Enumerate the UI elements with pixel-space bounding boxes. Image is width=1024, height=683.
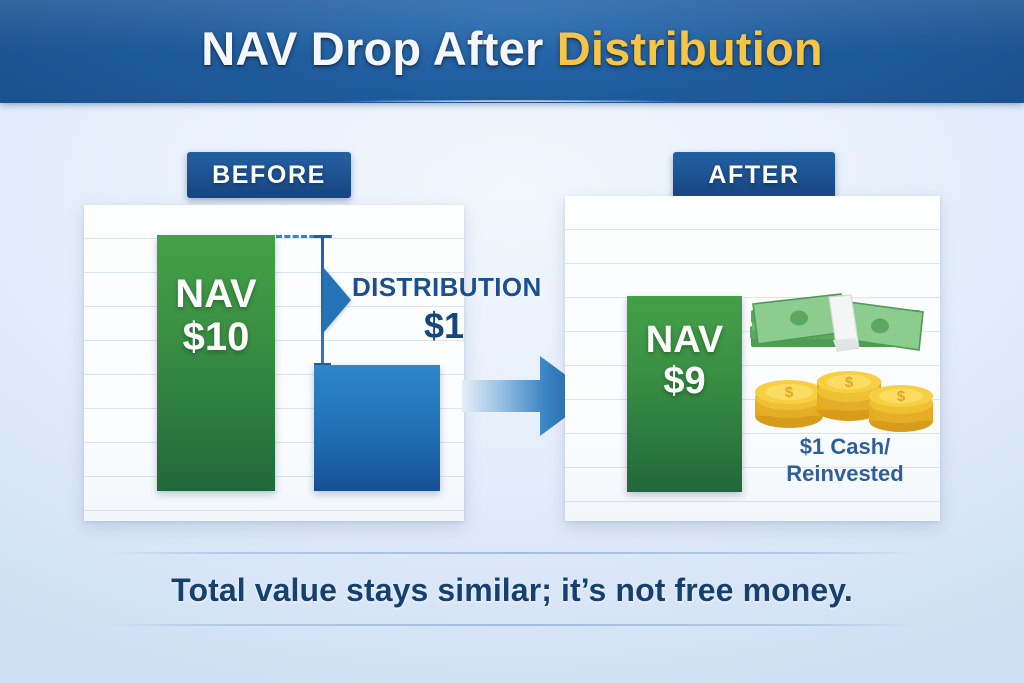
bar-nav-before-label-line1: NAV <box>157 273 275 316</box>
page-title-main: NAV Drop After <box>201 22 557 75</box>
divider-top <box>108 552 920 554</box>
header-swoosh-divider <box>95 86 930 102</box>
distribution-pointer-icon <box>323 267 351 333</box>
bar-nav-after-label-line1: NAV <box>627 320 742 361</box>
svg-text:$: $ <box>845 374 854 391</box>
panel-after: NAV $9 <box>565 196 940 521</box>
badge-after: AFTER <box>673 152 835 198</box>
badge-before: BEFORE <box>187 152 351 198</box>
divider-bottom <box>108 624 920 626</box>
distribution-annotation-amount: $1 <box>424 305 562 347</box>
page-title-accent: Distribution <box>557 22 823 75</box>
bar-distribution <box>314 365 440 491</box>
svg-text:$: $ <box>785 384 794 401</box>
infographic-canvas: NAV Drop After Distribution BEFORE AFTER… <box>0 0 1024 683</box>
cash-and-coins-icon: $ $ <box>745 288 940 438</box>
footer-caption: Total value stays similar; it’s not free… <box>0 572 1024 609</box>
panel-before: NAV $10 <box>84 205 464 521</box>
bar-nav-before-label-line2: $10 <box>157 316 275 359</box>
badge-before-label: BEFORE <box>212 161 326 190</box>
bar-nav-after-label-line2: $9 <box>627 361 742 402</box>
distribution-annotation-word: DISTRIBUTION <box>352 272 562 303</box>
distribution-annotation: DISTRIBUTION $1 <box>352 272 562 347</box>
bar-nav-before-label: NAV $10 <box>157 273 275 359</box>
badge-after-label: AFTER <box>708 161 799 190</box>
svg-text:$: $ <box>897 388 906 405</box>
cash-reinvested-caption-line1: $1 Cash/ <box>755 434 935 461</box>
bar-nav-before: NAV $10 <box>157 235 275 491</box>
page-title: NAV Drop After Distribution <box>0 24 1024 73</box>
bar-nav-after: NAV $9 <box>627 296 742 492</box>
cash-reinvested-caption: $1 Cash/ Reinvested <box>755 434 935 488</box>
bar-nav-after-label: NAV $9 <box>627 320 742 402</box>
cash-reinvested-caption-line2: Reinvested <box>755 461 935 488</box>
